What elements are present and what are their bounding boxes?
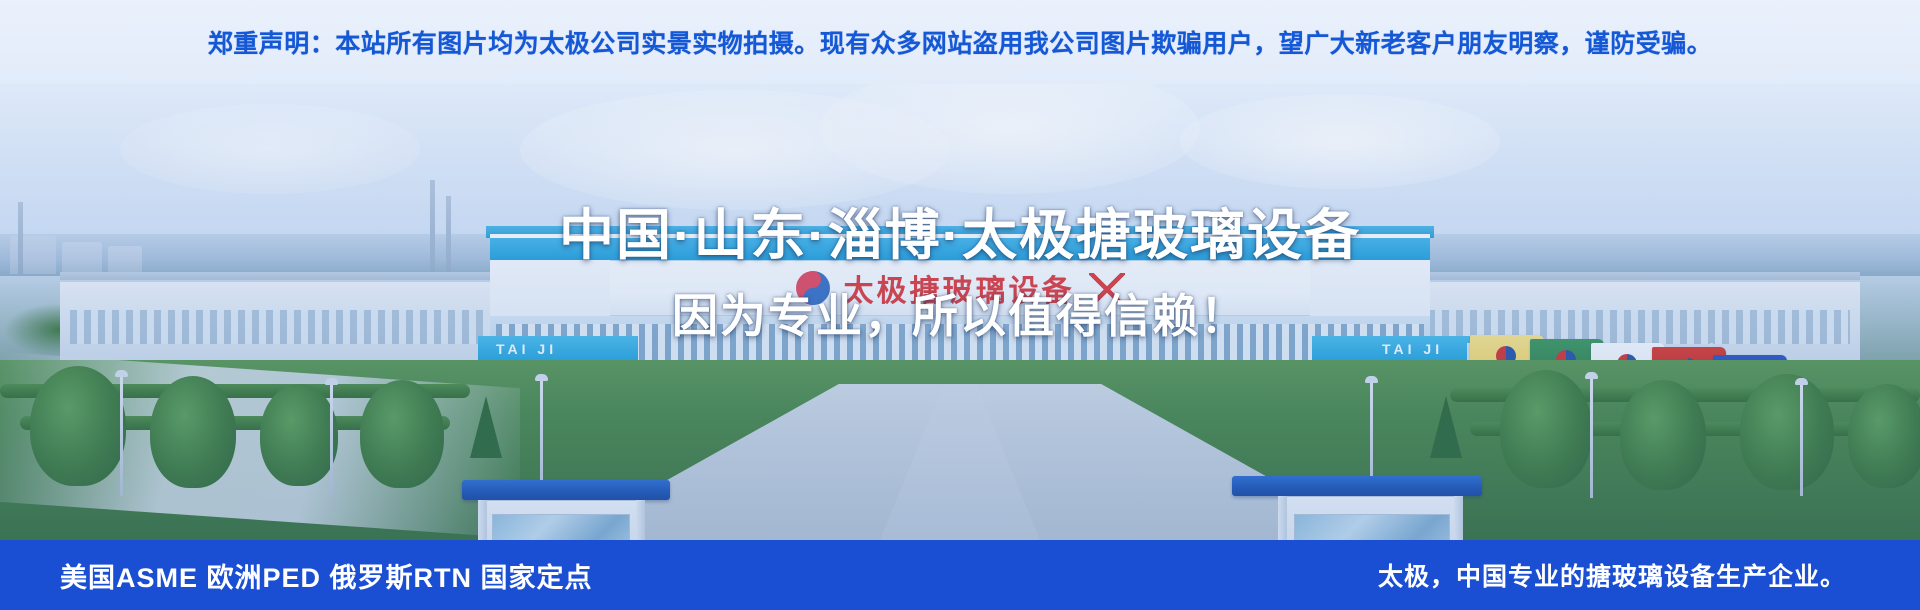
hero-headline: 中国·山东·淄博·太极搪玻璃设备 因为专业，所以值得信赖！	[0, 190, 1920, 346]
hero-headline-line2: 因为专业，所以值得信赖！	[672, 280, 1248, 346]
tree	[1740, 374, 1834, 490]
tree	[1500, 370, 1592, 488]
company-hero-banner: 郑重声明：本站所有图片均为太极公司实景实物拍摄。现有众多网站盗用我公司图片欺骗用…	[0, 0, 1920, 610]
tree	[1848, 384, 1920, 488]
tree	[150, 376, 236, 488]
guard-house-pillar	[1454, 496, 1463, 540]
tree	[30, 366, 126, 486]
street-lamp	[120, 376, 123, 496]
conifer-tree	[470, 396, 502, 458]
guard-house-pillar	[1278, 496, 1287, 540]
certification-footer-bar: 美国ASME 欧洲PED 俄罗斯RTN 国家定点 太极，中国专业的搪玻璃设备生产…	[0, 540, 1920, 610]
tree	[1620, 380, 1706, 490]
guard-house-right	[1248, 476, 1468, 540]
street-lamp	[1800, 384, 1803, 496]
tree	[260, 384, 338, 486]
guard-house-pillar	[478, 500, 487, 540]
certification-text: 美国ASME 欧洲PED 俄罗斯RTN 国家定点	[60, 556, 593, 595]
hero-headline-line1: 中国·山东·淄博·太极搪玻璃设备	[559, 190, 1361, 270]
guard-house-roof	[462, 480, 670, 500]
tree	[360, 380, 444, 488]
guard-house-pillar	[636, 500, 645, 540]
company-slogan: 太极，中国专业的搪玻璃设备生产企业。	[1378, 557, 1846, 593]
guard-house-left	[476, 480, 656, 540]
street-lamp	[330, 384, 333, 494]
copyright-notice-text: 郑重声明：本站所有图片均为太极公司实景实物拍摄。现有众多网站盗用我公司图片欺骗用…	[208, 24, 1713, 60]
conifer-tree	[1430, 396, 1462, 458]
cloud	[120, 104, 420, 194]
cloud	[1180, 94, 1500, 189]
street-lamp	[1590, 378, 1593, 498]
guard-house-window	[1294, 514, 1450, 540]
copyright-notice-bar: 郑重声明：本站所有图片均为太极公司实景实物拍摄。现有众多网站盗用我公司图片欺骗用…	[0, 0, 1920, 84]
guard-house-window	[492, 514, 630, 540]
guard-house-roof	[1232, 476, 1482, 496]
